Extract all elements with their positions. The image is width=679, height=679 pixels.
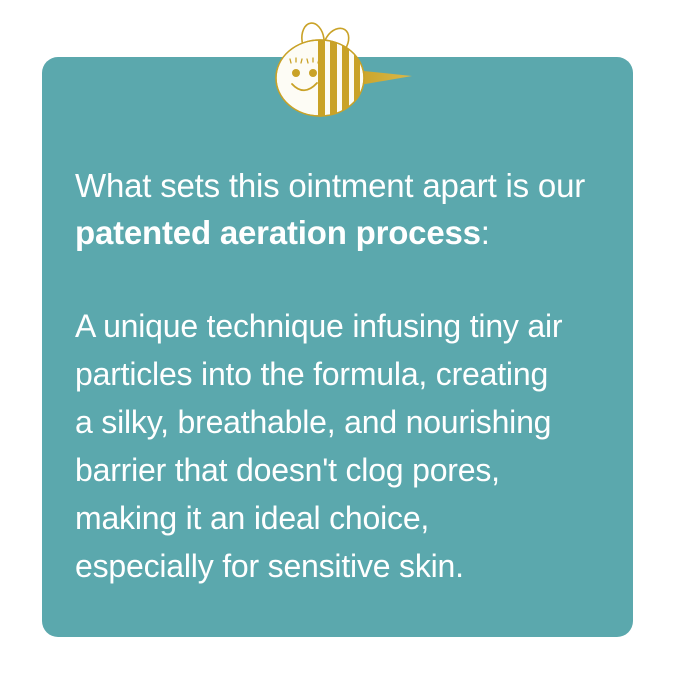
headline-lead-text: What sets this ointment apart is our: [75, 167, 585, 204]
infographic-canvas: What sets this ointment apart is our pat…: [0, 0, 679, 679]
text-block: What sets this ointment apart is our pat…: [75, 162, 620, 590]
body-paragraph: A unique technique infusing tiny air par…: [75, 302, 620, 590]
headline: What sets this ointment apart is our pat…: [75, 162, 620, 256]
headline-trailing-text: :: [481, 214, 490, 251]
bee-icon: [262, 18, 422, 122]
headline-emphasis-text: patented aeration process: [75, 214, 481, 251]
teal-content-card: What sets this ointment apart is our pat…: [42, 57, 633, 637]
